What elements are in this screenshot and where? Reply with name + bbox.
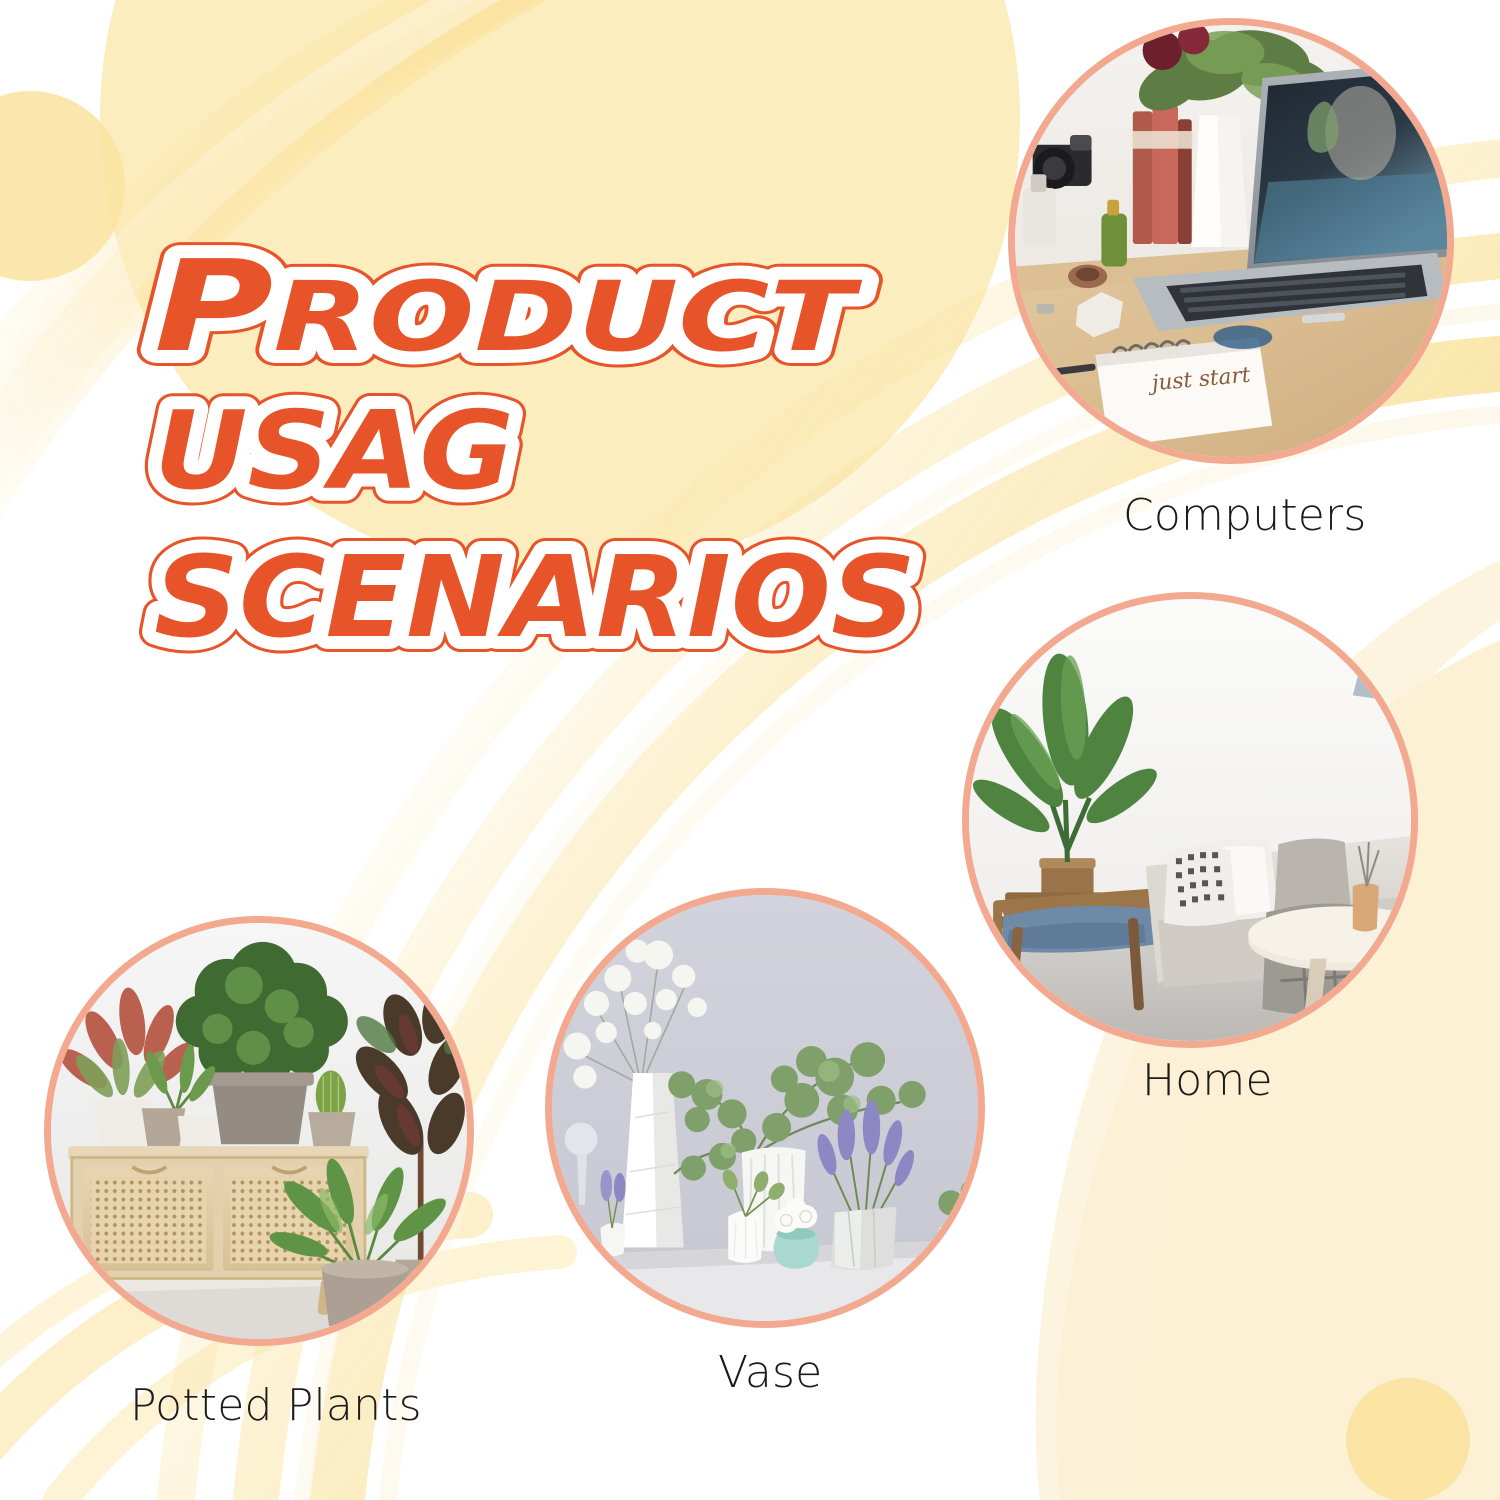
scenario-image-potted-plants[interactable] xyxy=(44,916,474,1346)
svg-text:PRODUCT: PRODUCT xyxy=(154,233,862,380)
title-line-3: SCENARIOS SCENARIOS SCENARIOS xyxy=(154,533,916,663)
title-artwork: .tfill{ font-family:"DejaVu Sans", sans-… xyxy=(150,238,940,708)
page-title: .tfill{ font-family:"DejaVu Sans", sans-… xyxy=(150,238,940,708)
scenario-image-computers[interactable]: just start xyxy=(1008,18,1454,464)
infographic-canvas: .tfill{ font-family:"DejaVu Sans", sans-… xyxy=(0,0,1500,1500)
decor-dot-top-left xyxy=(0,91,125,281)
scenario-label-potted-plants: Potted Plants xyxy=(130,1380,422,1431)
white-vases-photo xyxy=(552,895,978,1321)
scenario-image-home[interactable] xyxy=(962,592,1418,1048)
decor-dot-bottom-right xyxy=(1346,1378,1470,1500)
title-line-2: USAG USAG USAG xyxy=(154,389,514,514)
scenario-label-computers: Computers xyxy=(1123,490,1366,541)
scenario-label-vase: Vase xyxy=(718,1347,822,1398)
svg-text:USAG: USAG xyxy=(154,389,514,514)
svg-text:SCENARIOS: SCENARIOS xyxy=(154,533,916,663)
scenario-image-vase[interactable] xyxy=(545,888,985,1328)
potted-plants-photo xyxy=(51,923,467,1339)
living-room-photo xyxy=(969,599,1411,1041)
scenario-label-home: Home xyxy=(1142,1055,1273,1106)
title-line-1: PRODUCT PRODUCT PRODUCT xyxy=(154,233,862,380)
desk-laptop-photo: just start xyxy=(1015,25,1447,457)
